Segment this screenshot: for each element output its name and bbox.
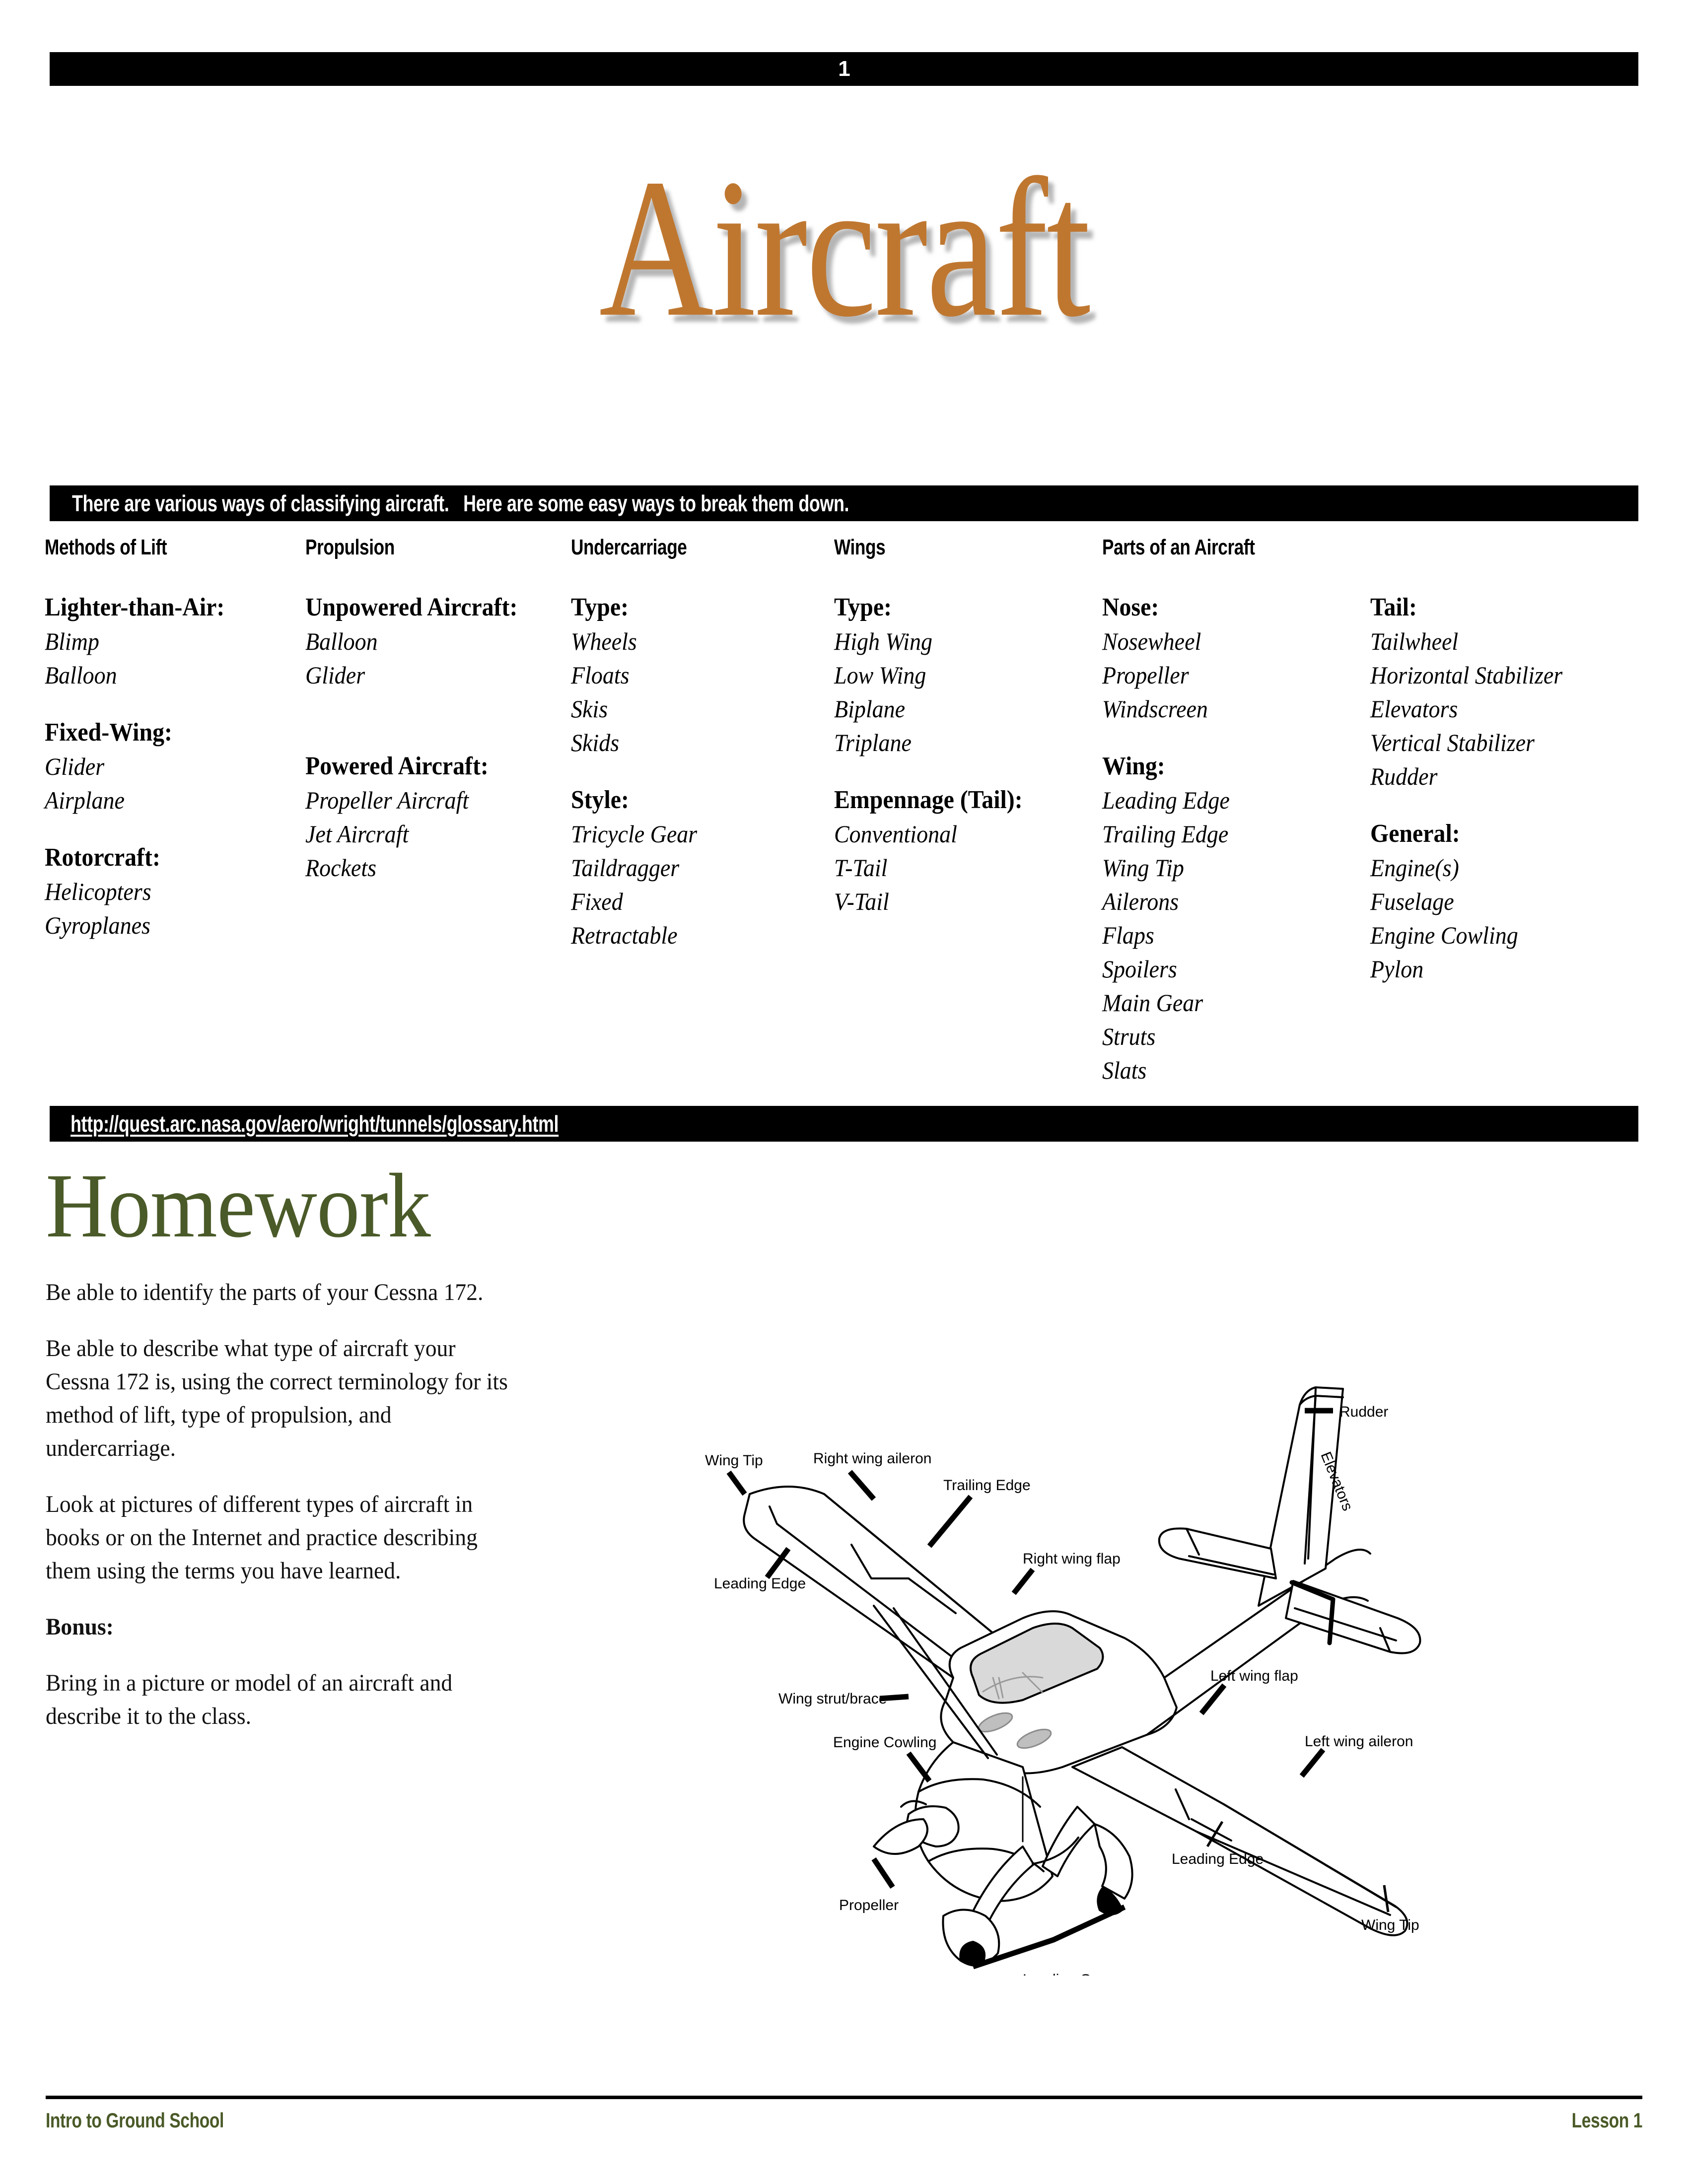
group-item: Rockets: [305, 851, 543, 885]
column-wings: Type: High Wing Low Wing Biplane Triplan…: [834, 591, 1092, 942]
group-item: Pylon: [1370, 952, 1626, 986]
diagram-label-wing-tip-left: Wing Tip: [1361, 1917, 1419, 1933]
group-item: Skids: [571, 726, 799, 759]
group-item: Fixed: [571, 885, 799, 918]
group-item: Leading Edge: [1102, 783, 1339, 817]
homework-heading: Homework: [46, 1157, 430, 1256]
diagram-label-leading-edge-right: Leading Edge: [714, 1575, 806, 1592]
spacer: [305, 692, 563, 726]
group-item: Tricycle Gear: [571, 817, 799, 851]
group-item: Glider: [45, 750, 273, 783]
group-item: Spoilers: [1102, 952, 1339, 986]
diagram-label-left-wing-flap: Left wing flap: [1210, 1668, 1298, 1684]
group-item: Propeller Aircraft: [305, 783, 543, 817]
page-number: 1: [838, 57, 849, 81]
group-title: Type:: [834, 591, 1071, 624]
homework-paragraph: Look at pictures of different types of a…: [46, 1488, 508, 1587]
group-item: High Wing: [834, 624, 1071, 658]
group-item: Balloon: [305, 624, 543, 658]
diagram-label-wing-strut-brace: Wing strut/brace: [778, 1691, 887, 1707]
group-lighter-than-air: Lighter-than-Air: Blimp Balloon: [45, 591, 293, 692]
group-item: Wing Tip: [1102, 851, 1339, 885]
glossary-url-link[interactable]: http://quest.arc.nasa.gov/aero/wright/tu…: [70, 1110, 559, 1137]
cessna-172-diagram: Wing Tip Right wing aileron Trailing Edg…: [556, 1330, 1589, 1976]
column-header-propulsion: Propulsion: [305, 535, 395, 560]
group-item: Engine Cowling: [1370, 918, 1626, 952]
column-header-parts-of-an-aircraft: Parts of an Aircraft: [1102, 535, 1255, 560]
classification-banner: There are various ways of classifying ai…: [50, 485, 1638, 521]
column-methods-of-lift: Lighter-than-Air: Blimp Balloon Fixed-Wi…: [45, 591, 293, 966]
classification-banner-text: There are various ways of classifying ai…: [72, 490, 849, 517]
column-propulsion: Unpowered Aircraft: Balloon Glider Power…: [305, 591, 563, 908]
group-item: Vertical Stabilizer: [1370, 726, 1626, 759]
group-title: Powered Aircraft:: [305, 750, 543, 783]
group-item: Blimp: [45, 624, 273, 658]
group-fixed-wing: Fixed-Wing: Glider Airplane: [45, 716, 293, 817]
group-item: Biplane: [834, 692, 1071, 726]
group-item: Struts: [1102, 1020, 1339, 1053]
group-title: Rotorcraft:: [45, 841, 273, 875]
column-header-undercarriage: Undercarriage: [571, 535, 687, 560]
group-item: Conventional: [834, 817, 1071, 851]
diagram-label-left-wing-aileron: Left wing aileron: [1305, 1733, 1413, 1750]
group-item: Skis: [571, 692, 799, 726]
group-general: General: Engine(s) Fuselage Engine Cowli…: [1370, 817, 1648, 986]
group-item: Elevators: [1370, 692, 1626, 726]
group-item: Airplane: [45, 783, 273, 817]
group-item: Triplane: [834, 726, 1071, 759]
group-item: Engine(s): [1370, 851, 1626, 885]
diagram-label-landing-gear: Landing Gear: [1023, 1972, 1113, 1976]
homework-bonus-label: Bonus:: [46, 1610, 508, 1643]
footer-course-name: Intro to Ground School: [46, 2109, 224, 2132]
group-item: Balloon: [45, 658, 273, 692]
diagram-label-engine-cowling: Engine Cowling: [833, 1734, 936, 1751]
column-parts-nose-wing: Nose: Nosewheel Propeller Windscreen Win…: [1102, 591, 1360, 1111]
diagram-label-right-wing-aileron: Right wing aileron: [813, 1450, 931, 1467]
group-undercarriage-type: Type: Wheels Floats Skis Skids: [571, 591, 819, 759]
column-header-wings: Wings: [834, 535, 885, 560]
group-item: Wheels: [571, 624, 799, 658]
diagram-label-leading-edge-left: Leading Edge: [1172, 1851, 1264, 1867]
group-title: Lighter-than-Air:: [45, 591, 273, 624]
group-item: Flaps: [1102, 918, 1339, 952]
diagram-label-wing-tip-right: Wing Tip: [705, 1452, 763, 1469]
group-title: Fixed-Wing:: [45, 716, 273, 750]
group-title: Tail:: [1370, 591, 1626, 624]
group-item: Propeller: [1102, 658, 1339, 692]
group-item: Taildragger: [571, 851, 799, 885]
group-item: Jet Aircraft: [305, 817, 543, 851]
footer-lesson-number: Lesson 1: [1572, 2109, 1642, 2132]
group-title: Unpowered Aircraft:: [305, 591, 543, 624]
group-item: Horizontal Stabilizer: [1370, 658, 1626, 692]
group-item: Windscreen: [1102, 692, 1339, 726]
group-item: Gyroplanes: [45, 908, 273, 942]
group-item: Low Wing: [834, 658, 1071, 692]
group-undercarriage-style: Style: Tricycle Gear Taildragger Fixed R…: [571, 783, 819, 952]
diagram-label-rudder: Rudder: [1339, 1404, 1388, 1420]
footer-divider: [46, 2096, 1642, 2099]
group-item: Floats: [571, 658, 799, 692]
group-item: Rudder: [1370, 759, 1626, 793]
group-empennage: Empennage (Tail): Conventional T-Tail V-…: [834, 783, 1092, 918]
group-item: Ailerons: [1102, 885, 1339, 918]
column-header-row: Methods of Lift Propulsion Undercarriage…: [45, 535, 1643, 565]
group-item: Main Gear: [1102, 986, 1339, 1020]
group-title: Wing:: [1102, 750, 1339, 783]
page-number-bar: 1: [50, 52, 1638, 86]
homework-body: Be able to identify the parts of your Ce…: [46, 1276, 532, 1756]
diagram-label-trailing-edge: Trailing Edge: [943, 1477, 1031, 1494]
diagram-label-propeller: Propeller: [839, 1897, 899, 1913]
group-item: Nosewheel: [1102, 624, 1339, 658]
group-tail: Tail: Tailwheel Horizontal Stabilizer El…: [1370, 591, 1648, 793]
homework-bonus-paragraph: Bring in a picture or model of an aircra…: [46, 1666, 508, 1733]
group-title: Style:: [571, 783, 799, 817]
group-item: V-Tail: [834, 885, 1071, 918]
group-item: T-Tail: [834, 851, 1071, 885]
diagram-label-right-wing-flap: Right wing flap: [1023, 1551, 1121, 1567]
group-item: Helicopters: [45, 875, 273, 908]
group-nose: Nose: Nosewheel Propeller Windscreen: [1102, 591, 1360, 726]
column-parts-tail-general: Tail: Tailwheel Horizontal Stabilizer El…: [1370, 591, 1648, 1010]
group-powered-aircraft: Powered Aircraft: Propeller Aircraft Jet…: [305, 750, 563, 885]
column-undercarriage: Type: Wheels Floats Skis Skids Style: Tr…: [571, 591, 819, 976]
group-item: Glider: [305, 658, 543, 692]
group-item: Tailwheel: [1370, 624, 1626, 658]
group-unpowered-aircraft: Unpowered Aircraft: Balloon Glider: [305, 591, 563, 726]
group-title: Empennage (Tail):: [834, 783, 1071, 817]
group-title: Type:: [571, 591, 799, 624]
homework-paragraph: Be able to describe what type of aircraf…: [46, 1332, 508, 1465]
column-header-methods-of-lift: Methods of Lift: [45, 535, 167, 560]
group-item: Slats: [1102, 1053, 1339, 1087]
group-title: General:: [1370, 817, 1626, 851]
page-title: Aircraft: [169, 149, 1519, 347]
group-wing: Wing: Leading Edge Trailing Edge Wing Ti…: [1102, 750, 1360, 1087]
group-item: Retractable: [571, 918, 799, 952]
group-title: Nose:: [1102, 591, 1339, 624]
group-wings-type: Type: High Wing Low Wing Biplane Triplan…: [834, 591, 1092, 759]
homework-paragraph: Be able to identify the parts of your Ce…: [46, 1276, 508, 1309]
group-item: Trailing Edge: [1102, 817, 1339, 851]
group-rotorcraft: Rotorcraft: Helicopters Gyroplanes: [45, 841, 293, 942]
glossary-url-banner[interactable]: http://quest.arc.nasa.gov/aero/wright/tu…: [50, 1106, 1638, 1142]
group-item: Fuselage: [1370, 885, 1626, 918]
